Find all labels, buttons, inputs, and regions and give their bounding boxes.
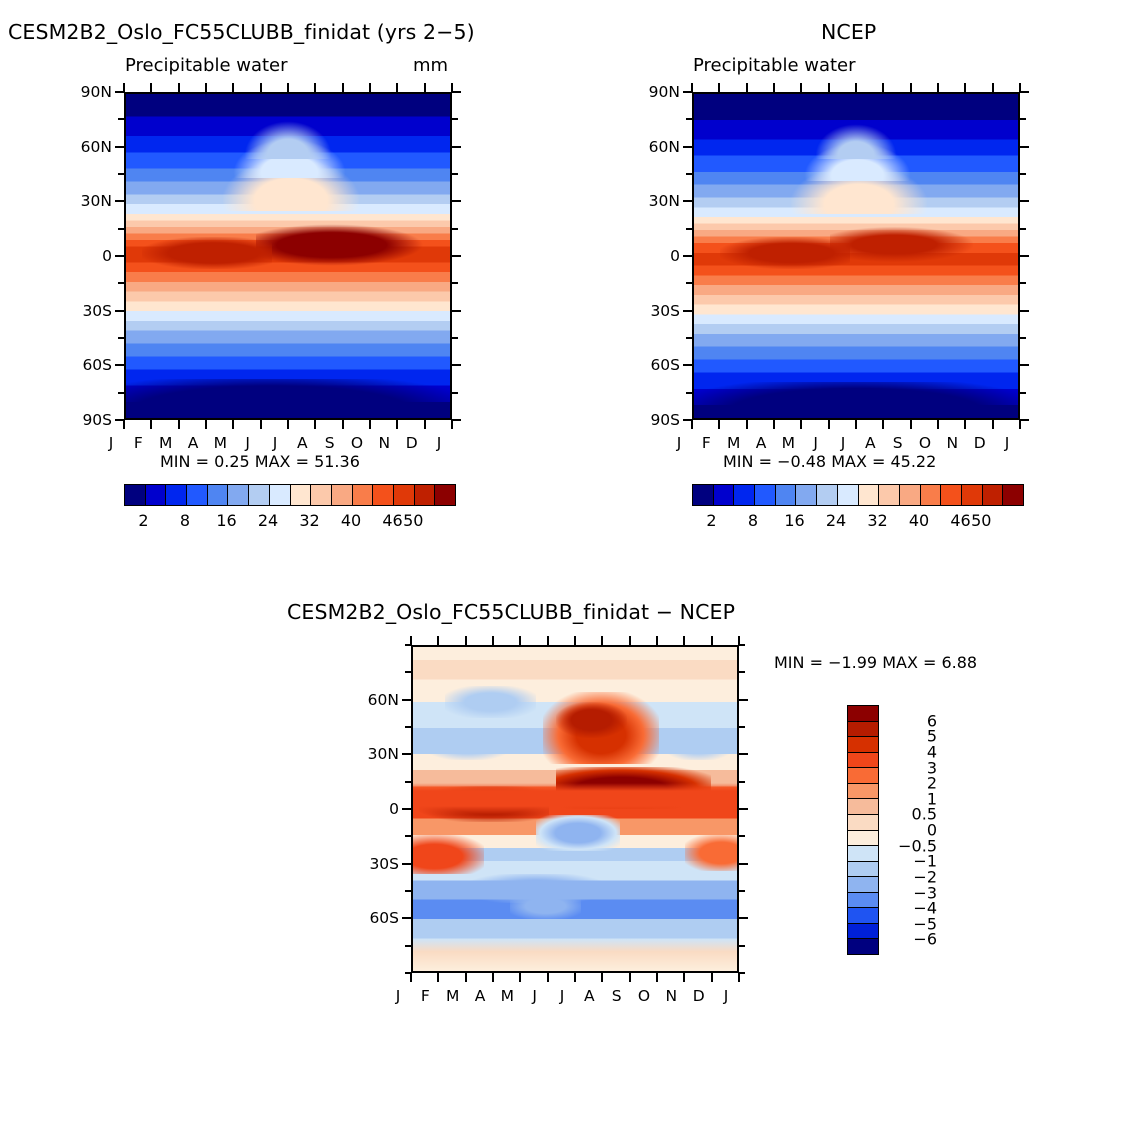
contour-blob xyxy=(685,835,737,871)
model-colorbar-label: 50 xyxy=(391,511,435,530)
diff-month-label: J xyxy=(385,987,411,1005)
model-stats: MIN = 0.25 MAX = 51.36 xyxy=(160,452,360,471)
model-x-tick xyxy=(451,420,453,429)
contour-blob xyxy=(830,227,973,263)
model-colorbar-cell[interactable] xyxy=(311,485,332,505)
diff-x-tick-top xyxy=(711,636,713,645)
obs-x-tick xyxy=(1019,420,1021,429)
model-y-tick xyxy=(115,146,124,148)
model-x-tick-top xyxy=(287,83,289,92)
model-colorbar-cell[interactable] xyxy=(125,485,146,505)
diff-month-label: M xyxy=(440,987,466,1005)
model-month-label: D xyxy=(399,434,425,452)
obs-y-tick xyxy=(686,118,692,120)
diff-x-tick xyxy=(547,973,549,982)
obs-y-label: 90S xyxy=(618,411,680,429)
model-plot-frame xyxy=(124,92,452,420)
model-colorbar-label: 8 xyxy=(163,511,207,530)
model-month-label: J xyxy=(235,434,261,452)
model-colorbar-cell[interactable] xyxy=(415,485,436,505)
obs-month-label: J xyxy=(994,434,1020,452)
model-x-tick-top xyxy=(369,83,371,92)
obs-y-tick xyxy=(686,392,692,394)
model-colorbar-cell[interactable] xyxy=(228,485,249,505)
model-y-tick-right xyxy=(452,173,458,175)
obs-x-tick-top xyxy=(800,83,802,92)
diff-month-label: J xyxy=(713,987,739,1005)
diff-month-label: J xyxy=(522,987,548,1005)
obs-colorbar-cell[interactable] xyxy=(796,485,817,505)
diff-month-label: A xyxy=(467,987,493,1005)
diff-stats: MIN = −1.99 MAX = 6.88 xyxy=(774,653,977,672)
obs-panel-title: NCEP xyxy=(821,20,876,44)
contour-blob xyxy=(694,382,1018,418)
model-y-label: 60S xyxy=(50,356,112,374)
contour-blob xyxy=(814,123,898,159)
obs-y-label: 60N xyxy=(618,138,680,156)
model-x-tick xyxy=(260,420,262,429)
diff-colorbar-cell[interactable] xyxy=(848,768,878,784)
model-y-label: 90S xyxy=(50,411,112,429)
obs-colorbar-label: 16 xyxy=(773,511,817,530)
obs-colorbar-cell[interactable] xyxy=(693,485,714,505)
obs-y-tick xyxy=(686,282,692,284)
obs-x-tick xyxy=(800,420,802,429)
diff-x-tick xyxy=(711,973,713,982)
model-month-label: N xyxy=(371,434,397,452)
obs-contour-field xyxy=(694,94,1018,418)
obs-stats: MIN = −0.48 MAX = 45.22 xyxy=(723,452,936,471)
obs-y-tick-right xyxy=(1020,282,1026,284)
obs-y-tick-right xyxy=(1020,146,1029,148)
diff-x-tick xyxy=(738,973,740,982)
diff-colorbar-cell[interactable] xyxy=(848,846,878,862)
model-colorbar-cell[interactable] xyxy=(146,485,167,505)
diff-y-label: 60S xyxy=(337,909,399,927)
model-colorbar-label: 40 xyxy=(329,511,373,530)
model-y-tick xyxy=(118,228,124,230)
diff-colorbar-cell[interactable] xyxy=(848,815,878,831)
obs-y-tick-right xyxy=(1020,200,1029,202)
obs-x-tick-top xyxy=(828,83,830,92)
obs-colorbar-cell[interactable] xyxy=(879,485,900,505)
obs-colorbar-cell[interactable] xyxy=(1003,485,1023,505)
diff-colorbar-cell[interactable] xyxy=(848,799,878,815)
diff-month-label: F xyxy=(412,987,438,1005)
model-y-tick xyxy=(115,200,124,202)
diff-x-tick xyxy=(437,973,439,982)
diff-y-tick xyxy=(405,671,411,673)
model-y-tick-right xyxy=(452,392,458,394)
model-x-tick-top xyxy=(424,83,426,92)
obs-x-tick xyxy=(964,420,966,429)
obs-x-tick-top xyxy=(746,83,748,92)
model-y-label: 30S xyxy=(50,302,112,320)
model-colorbar-cell[interactable] xyxy=(249,485,270,505)
diff-x-tick xyxy=(574,973,576,982)
contour-blob xyxy=(256,224,425,266)
diff-colorbar-cell[interactable] xyxy=(848,753,878,769)
diff-y-tick-right xyxy=(739,835,745,837)
model-colorbar-label: 16 xyxy=(205,511,249,530)
model-colorbar-cell[interactable] xyxy=(270,485,291,505)
model-month-label: A xyxy=(180,434,206,452)
obs-x-tick-top xyxy=(773,83,775,92)
diff-month-label: D xyxy=(686,987,712,1005)
obs-month-label: J xyxy=(830,434,856,452)
obs-y-label: 60S xyxy=(618,356,680,374)
diff-y-tick xyxy=(405,890,411,892)
diff-colorbar-cell[interactable] xyxy=(848,784,878,800)
diff-x-tick xyxy=(683,973,685,982)
model-y-tick xyxy=(118,337,124,339)
obs-colorbar-cell[interactable] xyxy=(817,485,838,505)
obs-x-tick-top xyxy=(964,83,966,92)
obs-month-label: D xyxy=(967,434,993,452)
model-x-tick xyxy=(232,420,234,429)
diff-y-tick-right xyxy=(739,808,748,810)
diff-colorbar-cell[interactable] xyxy=(848,924,878,940)
obs-y-tick-right xyxy=(1020,173,1026,175)
model-x-tick xyxy=(424,420,426,429)
diff-x-tick-top xyxy=(465,636,467,645)
diff-y-tick-right xyxy=(739,890,745,892)
model-x-tick-top xyxy=(205,83,207,92)
model-colorbar-cell[interactable] xyxy=(373,485,394,505)
obs-x-tick xyxy=(746,420,748,429)
model-month-label: J xyxy=(262,434,288,452)
model-y-tick xyxy=(118,282,124,284)
obs-colorbar-cell[interactable] xyxy=(962,485,983,505)
model-x-tick-top xyxy=(150,83,152,92)
diff-x-tick-top xyxy=(410,636,412,645)
diff-x-tick-top xyxy=(601,636,603,645)
obs-colorbar-cell[interactable] xyxy=(734,485,755,505)
model-y-tick-right xyxy=(452,200,461,202)
diff-x-tick xyxy=(656,973,658,982)
obs-y-tick xyxy=(683,310,692,312)
obs-y-tick-right xyxy=(1020,91,1029,93)
obs-y-tick-right xyxy=(1020,255,1029,257)
model-colorbar-cell[interactable] xyxy=(291,485,312,505)
model-month-label: F xyxy=(125,434,151,452)
diff-colorbar-label: −6 xyxy=(885,930,937,949)
model-panel-title: CESM2B2_Oslo_FC55CLUBB_finidat (yrs 2−5) xyxy=(8,20,475,44)
obs-y-tick xyxy=(683,200,692,202)
diff-colorbar-cell[interactable] xyxy=(848,831,878,847)
diff-colorbar-cell[interactable] xyxy=(848,893,878,909)
model-x-tick xyxy=(123,420,125,429)
obs-y-tick xyxy=(686,173,692,175)
obs-month-label: A xyxy=(857,434,883,452)
model-y-tick-right xyxy=(452,146,461,148)
obs-colorbar-label: 8 xyxy=(731,511,775,530)
contour-blob xyxy=(445,686,536,718)
obs-month-label: S xyxy=(885,434,911,452)
model-month-label: A xyxy=(289,434,315,452)
diff-x-tick-top xyxy=(574,636,576,645)
model-y-tick-right xyxy=(452,364,461,366)
model-y-tick xyxy=(115,255,124,257)
diff-month-label: J xyxy=(549,987,575,1005)
diff-colorbar-cell[interactable] xyxy=(848,862,878,878)
diff-x-tick xyxy=(410,973,412,982)
contour-blob xyxy=(413,835,484,874)
model-y-tick-right xyxy=(452,310,461,312)
diff-y-tick-right xyxy=(739,945,745,947)
obs-x-tick-top xyxy=(992,83,994,92)
model-x-tick xyxy=(369,420,371,429)
contour-blob xyxy=(426,731,510,760)
diff-y-tick-right xyxy=(739,699,748,701)
obs-x-tick xyxy=(828,420,830,429)
model-y-tick-right xyxy=(452,419,461,421)
model-month-label: S xyxy=(317,434,343,452)
model-y-label: 90N xyxy=(50,83,112,101)
obs-y-tick-right xyxy=(1020,228,1026,230)
obs-month-label: J xyxy=(666,434,692,452)
model-y-tick-right xyxy=(452,118,458,120)
diff-y-tick xyxy=(405,835,411,837)
model-x-tick xyxy=(178,420,180,429)
contour-blob xyxy=(142,237,272,269)
model-y-tick xyxy=(118,392,124,394)
model-colorbar-cell[interactable] xyxy=(187,485,208,505)
diff-colorbar-cell[interactable] xyxy=(848,706,878,722)
diff-y-tick xyxy=(402,863,411,865)
diff-month-label: A xyxy=(576,987,602,1005)
diff-x-tick xyxy=(519,973,521,982)
model-x-tick xyxy=(314,420,316,429)
diff-y-tick-right xyxy=(739,917,748,919)
diff-x-tick-top xyxy=(738,636,740,645)
obs-x-tick-top xyxy=(910,83,912,92)
contour-blob xyxy=(126,379,450,418)
obs-month-label: M xyxy=(721,434,747,452)
obs-colorbar-cell[interactable] xyxy=(921,485,942,505)
diff-x-tick-top xyxy=(519,636,521,645)
model-colorbar[interactable] xyxy=(124,484,456,506)
diff-colorbar-cell[interactable] xyxy=(848,877,878,893)
obs-y-label: 0 xyxy=(618,247,680,265)
obs-x-tick xyxy=(691,420,693,429)
obs-month-label: F xyxy=(693,434,719,452)
diff-contour-field xyxy=(413,647,737,971)
contour-blob xyxy=(243,120,334,159)
model-x-tick xyxy=(396,420,398,429)
diff-x-tick-top xyxy=(437,636,439,645)
model-unit-label: mm xyxy=(413,55,448,76)
obs-colorbar[interactable] xyxy=(692,484,1024,506)
diff-y-tick-right xyxy=(739,671,745,673)
diff-colorbar-cell[interactable] xyxy=(848,908,878,924)
diff-y-tick xyxy=(402,753,411,755)
obs-x-tick xyxy=(910,420,912,429)
model-y-tick-right xyxy=(452,255,461,257)
obs-y-tick xyxy=(683,146,692,148)
obs-x-tick xyxy=(855,420,857,429)
diff-month-label: N xyxy=(658,987,684,1005)
obs-x-tick-top xyxy=(855,83,857,92)
model-x-tick xyxy=(205,420,207,429)
obs-y-label: 30S xyxy=(618,302,680,320)
model-colorbar-label: 32 xyxy=(288,511,332,530)
model-y-tick xyxy=(118,173,124,175)
obs-month-label: O xyxy=(912,434,938,452)
diff-y-label: 30N xyxy=(337,745,399,763)
diff-x-tick xyxy=(629,973,631,982)
model-contour-field xyxy=(126,94,450,418)
diff-x-tick-top xyxy=(492,636,494,645)
obs-y-tick xyxy=(683,364,692,366)
model-y-label: 30N xyxy=(50,192,112,210)
obs-colorbar-label: 32 xyxy=(856,511,900,530)
diff-colorbar-cell[interactable] xyxy=(848,737,878,753)
model-x-tick-top xyxy=(314,83,316,92)
diff-x-tick xyxy=(492,973,494,982)
contour-blob xyxy=(510,893,581,919)
obs-y-tick xyxy=(686,228,692,230)
contour-blob xyxy=(536,815,620,851)
diff-month-label: M xyxy=(494,987,520,1005)
diff-x-tick-top xyxy=(629,636,631,645)
model-colorbar-cell[interactable] xyxy=(332,485,353,505)
obs-month-label: M xyxy=(775,434,801,452)
diff-y-tick xyxy=(405,945,411,947)
obs-variable-label: Precipitable water xyxy=(693,55,856,76)
model-month-label: M xyxy=(207,434,233,452)
diff-y-tick xyxy=(405,726,411,728)
diff-colorbar-cell[interactable] xyxy=(848,722,878,738)
model-colorbar-label: 24 xyxy=(246,511,290,530)
obs-y-label: 30N xyxy=(618,192,680,210)
obs-y-tick xyxy=(686,337,692,339)
model-x-tick-top xyxy=(342,83,344,92)
model-y-tick-right xyxy=(452,228,458,230)
obs-x-tick-top xyxy=(718,83,720,92)
obs-colorbar-cell[interactable] xyxy=(900,485,921,505)
model-month-label: J xyxy=(426,434,452,452)
model-y-tick-right xyxy=(452,282,458,284)
model-colorbar-label: 2 xyxy=(122,511,166,530)
contour-blob xyxy=(556,702,627,738)
model-x-tick-top xyxy=(451,83,453,92)
diff-y-tick-right xyxy=(739,863,748,865)
model-colorbar-cell[interactable] xyxy=(353,485,374,505)
contour-blob xyxy=(413,783,737,815)
diff-y-tick-right xyxy=(739,726,745,728)
obs-y-label: 90N xyxy=(618,83,680,101)
model-y-tick xyxy=(115,364,124,366)
diff-x-tick xyxy=(601,973,603,982)
model-colorbar-cell[interactable] xyxy=(208,485,229,505)
obs-colorbar-cell[interactable] xyxy=(776,485,797,505)
model-y-tick-right xyxy=(452,91,461,93)
model-month-label: O xyxy=(344,434,370,452)
contour-blob xyxy=(413,939,737,971)
obs-x-tick-top xyxy=(882,83,884,92)
diff-y-tick-right xyxy=(739,781,745,783)
model-colorbar-cell[interactable] xyxy=(435,485,455,505)
obs-colorbar-cell[interactable] xyxy=(755,485,776,505)
model-x-tick-top xyxy=(260,83,262,92)
obs-month-label: J xyxy=(803,434,829,452)
obs-x-tick-top xyxy=(937,83,939,92)
obs-month-label: A xyxy=(748,434,774,452)
obs-colorbar-label: 50 xyxy=(959,511,1003,530)
diff-y-label: 0 xyxy=(337,800,399,818)
diff-y-label: 60N xyxy=(337,691,399,709)
obs-colorbar-label: 2 xyxy=(690,511,734,530)
diff-y-label: 30S xyxy=(337,855,399,873)
obs-colorbar-label: 40 xyxy=(897,511,941,530)
model-x-tick-top xyxy=(232,83,234,92)
obs-x-tick-top xyxy=(1019,83,1021,92)
obs-colorbar-cell[interactable] xyxy=(859,485,880,505)
model-x-tick-top xyxy=(396,83,398,92)
obs-x-tick xyxy=(992,420,994,429)
diff-colorbar[interactable] xyxy=(847,705,879,955)
obs-plot-frame xyxy=(692,92,1020,420)
model-y-label: 0 xyxy=(50,247,112,265)
diff-x-tick-top xyxy=(656,636,658,645)
model-x-tick-top xyxy=(123,83,125,92)
obs-x-tick xyxy=(718,420,720,429)
obs-y-tick-right xyxy=(1020,419,1029,421)
diff-month-label: O xyxy=(631,987,657,1005)
diff-y-tick xyxy=(402,808,411,810)
model-variable-label: Precipitable water xyxy=(125,55,288,76)
model-month-label: J xyxy=(98,434,124,452)
diff-x-tick xyxy=(465,973,467,982)
obs-y-tick-right xyxy=(1020,337,1026,339)
obs-colorbar-cell[interactable] xyxy=(714,485,735,505)
model-y-tick xyxy=(115,310,124,312)
diff-x-tick-top xyxy=(683,636,685,645)
model-y-label: 60N xyxy=(50,138,112,156)
obs-y-tick xyxy=(683,255,692,257)
obs-y-tick-right xyxy=(1020,118,1026,120)
diff-y-tick-right xyxy=(739,753,748,755)
diff-month-label: S xyxy=(604,987,630,1005)
obs-x-tick xyxy=(937,420,939,429)
model-colorbar-cell[interactable] xyxy=(394,485,415,505)
model-x-tick xyxy=(342,420,344,429)
model-x-tick xyxy=(150,420,152,429)
diff-y-tick xyxy=(402,699,411,701)
contour-blob xyxy=(666,731,731,760)
diff-y-tick xyxy=(402,917,411,919)
model-y-tick-right xyxy=(452,337,458,339)
obs-colorbar-cell[interactable] xyxy=(941,485,962,505)
obs-x-tick xyxy=(773,420,775,429)
diff-plot-frame xyxy=(411,645,739,973)
model-y-tick xyxy=(118,118,124,120)
obs-colorbar-cell[interactable] xyxy=(838,485,859,505)
obs-y-tick-right xyxy=(1020,364,1029,366)
model-x-tick-top xyxy=(178,83,180,92)
diff-y-tick xyxy=(405,781,411,783)
diff-colorbar-cell[interactable] xyxy=(848,939,878,954)
obs-y-tick-right xyxy=(1020,310,1029,312)
obs-colorbar-label: 24 xyxy=(814,511,858,530)
model-colorbar-cell[interactable] xyxy=(166,485,187,505)
obs-colorbar-cell[interactable] xyxy=(983,485,1004,505)
obs-y-tick-right xyxy=(1020,392,1026,394)
obs-month-label: N xyxy=(939,434,965,452)
obs-x-tick xyxy=(882,420,884,429)
obs-x-tick-top xyxy=(691,83,693,92)
